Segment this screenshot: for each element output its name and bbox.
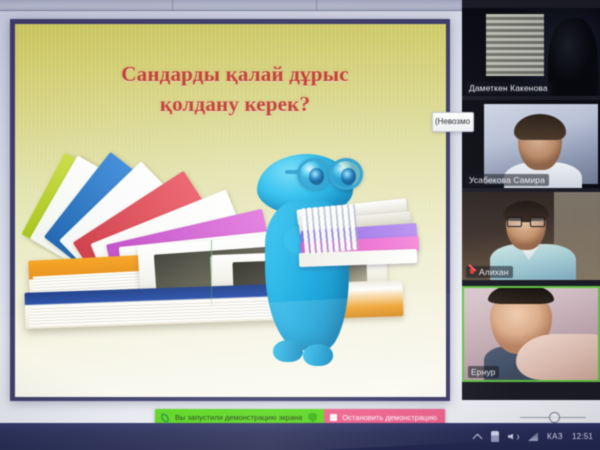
chevron-up-icon[interactable]: [473, 432, 482, 441]
tooltip-popup: (Невозмо: [432, 112, 474, 132]
laser-pointer-trail: [211, 240, 212, 306]
mascot-foot-left: [273, 340, 303, 362]
stop-sharing-label: Остановить демонстрацию: [342, 413, 437, 422]
toolbar-drag-handle[interactable]: [549, 412, 560, 423]
tooltip-text: (Невозмо: [435, 117, 470, 126]
shared-slide-window[interactable]: Сандарды қалай дұрыс қолдану керек?: [10, 19, 450, 401]
participant-name-text: Даметкен Какенова: [469, 83, 548, 93]
video-tile-1[interactable]: Даметкен Какенова: [462, 8, 600, 96]
webcam-image: [484, 104, 598, 184]
sharing-status-text: Вы запустили демонстрацию экрана: [175, 413, 302, 422]
participant-name-text: Усабекова Самира: [469, 175, 545, 185]
clock[interactable]: 12:51: [572, 432, 593, 441]
video-tile-4-active-speaker[interactable]: Ернур: [462, 286, 600, 382]
person-hair: [488, 286, 554, 304]
network-icon[interactable]: [528, 432, 538, 441]
monitor-photo: Сандарды қалай дұрыс қолдану керек?: [0, 0, 600, 450]
participant-name-text: Алихан: [479, 267, 509, 277]
participant-name-label: Алихан: [466, 266, 513, 278]
usb-device-icon[interactable]: [491, 431, 499, 442]
mascot-foot-right: [303, 344, 333, 366]
shield-icon[interactable]: [308, 413, 317, 423]
glasses-lens-right-icon: [329, 158, 363, 190]
slide-title-line-2: қолдану керек?: [41, 90, 429, 120]
participant-name-label: Усабекова Самира: [466, 174, 549, 186]
person-arm: [516, 334, 600, 380]
stop-square-icon: [330, 414, 337, 421]
slide-title-line-1: Сандарды қалай дұрыс: [41, 60, 429, 90]
microphone-muted-icon: [469, 268, 476, 277]
slide-illustration: [15, 142, 446, 392]
video-tile-3[interactable]: Алихан: [462, 192, 600, 280]
windows-taskbar[interactable]: КАЗ 12:51: [0, 423, 600, 450]
phone-icon: [160, 413, 169, 422]
participant-name-label: Ернур: [468, 366, 499, 378]
video-tile-2[interactable]: Усабекова Самира: [462, 100, 600, 188]
powerpoint-slide: Сандарды қалай дұрыс қолдану керек?: [15, 24, 446, 397]
language-indicator[interactable]: КАЗ: [547, 432, 563, 441]
slide-title: Сандарды қалай дұрыс қолдану керек?: [41, 60, 429, 120]
person-hair: [514, 114, 566, 140]
participant-name-text: Ернур: [471, 367, 495, 377]
blue-mascot-character: [229, 142, 419, 382]
speaker-icon[interactable]: [508, 432, 519, 442]
window-blinds: [486, 14, 544, 76]
eyeglasses-icon: [507, 217, 545, 227]
participant-name-label: Даметкен Какенова: [466, 82, 552, 94]
carried-book-pages: [301, 204, 359, 255]
glasses-lens-left-icon: [297, 158, 331, 190]
person-silhouette: [548, 18, 598, 96]
participant-video-strip[interactable]: Даметкен Какенова Усабекова Самира: [462, 0, 600, 400]
